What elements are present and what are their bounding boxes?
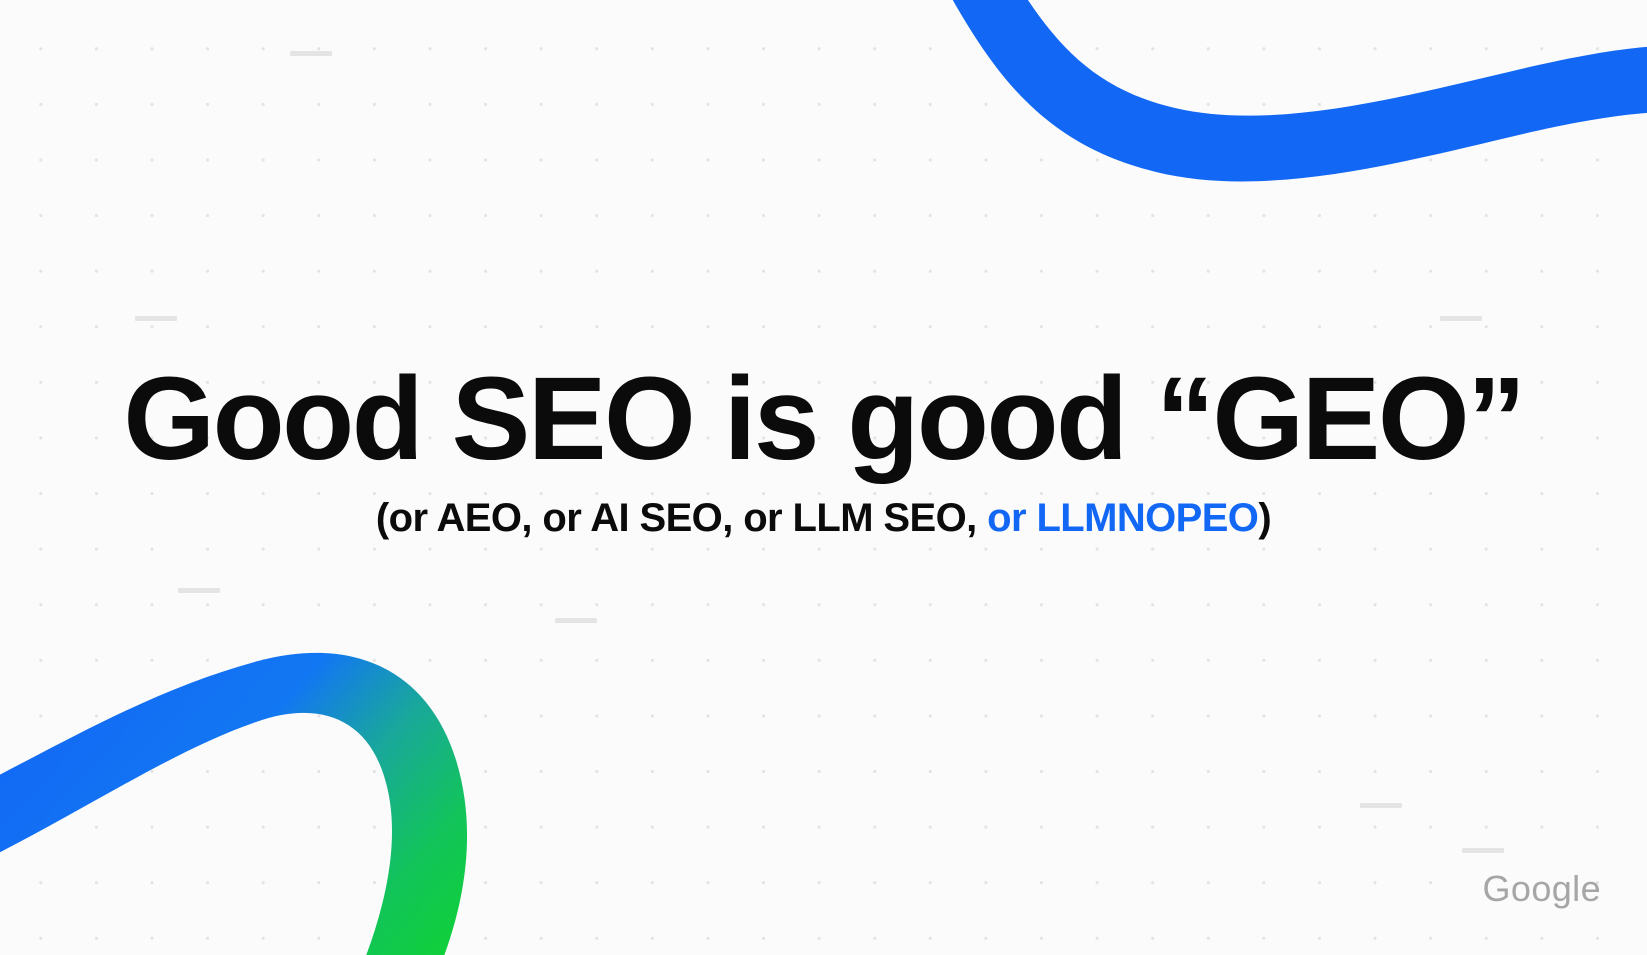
presentation-slide: Good SEO is good “GEO” (or AEO, or AI SE… [0, 0, 1647, 955]
gradient-hook-ribbon [0, 653, 467, 955]
decor-dash [1440, 316, 1482, 321]
decor-dash [555, 618, 597, 623]
subtitle-suffix: ) [1258, 496, 1271, 540]
decor-dash [1360, 803, 1402, 808]
slide-content: Good SEO is good “GEO” (or AEO, or AI SE… [0, 0, 1647, 955]
google-logo: Google [1483, 871, 1602, 907]
decor-dash [1462, 848, 1504, 853]
page-title: Good SEO is good “GEO” [123, 360, 1523, 478]
dot-grid-background [0, 0, 1647, 955]
subtitle-prefix: (or AEO, or AI SEO, or LLM SEO, [376, 496, 987, 540]
decorative-ribbons [0, 0, 1647, 955]
decor-dash [290, 51, 332, 56]
decor-dash [178, 588, 220, 593]
blue-wave-ribbon [946, 0, 1647, 181]
decor-dash [135, 316, 177, 321]
subtitle-accent: or LLMNOPEO [987, 496, 1258, 540]
subtitle: (or AEO, or AI SEO, or LLM SEO, or LLMNO… [376, 496, 1271, 540]
